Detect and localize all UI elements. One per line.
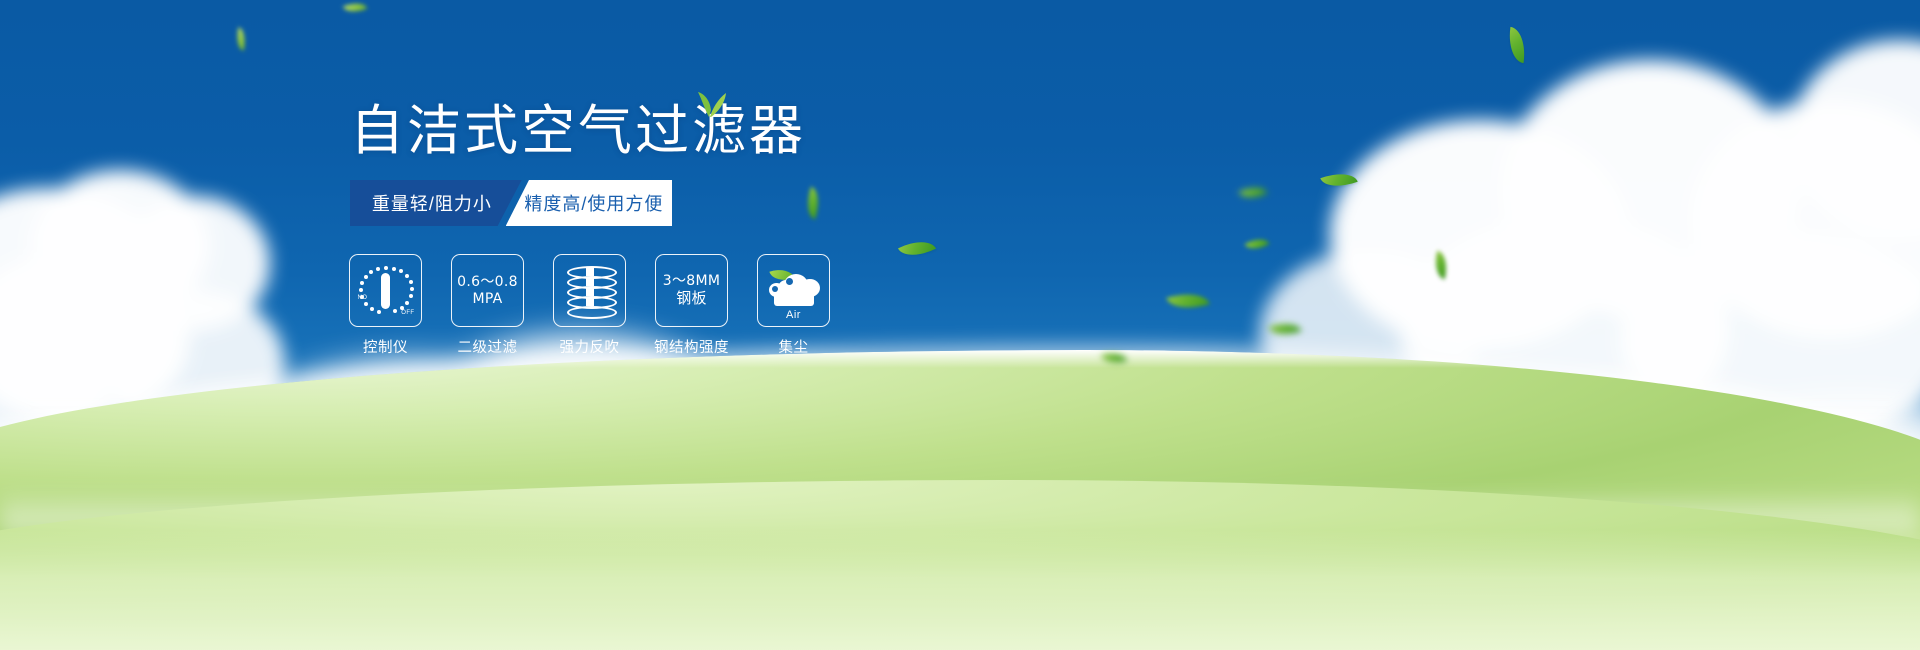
feature-caption: 集尘 xyxy=(779,336,809,357)
feature-item-steel: 3〜8MM 钢板 钢结构强度 xyxy=(656,254,727,357)
steel-value-line1: 3〜8MM xyxy=(663,273,720,290)
feature-item-controller: NO OFF 控制仪 xyxy=(350,254,421,357)
gauge-dial-icon: NO OFF xyxy=(359,264,413,318)
pressure-value-line1: 0.6〜0.8 xyxy=(457,274,518,291)
grass-foreground-band xyxy=(0,530,1920,650)
air-label: Air xyxy=(768,309,820,321)
cloud-base xyxy=(774,293,814,306)
feature-caption: 控制仪 xyxy=(363,336,408,357)
tagline-badges: 重量轻/阻力小 精度高/使用方便 xyxy=(350,180,672,226)
feature-icon-box xyxy=(553,254,626,327)
cloud-air-icon: Air xyxy=(768,270,820,312)
feature-icon-list: NO OFF 控制仪 0.6〜0.8 MPA 二级过滤 xyxy=(350,254,890,357)
badge-label: 重量轻/阻力小 xyxy=(372,190,492,216)
badge-label: 精度高/使用方便 xyxy=(524,190,663,216)
feature-item-backflush: 强力反吹 xyxy=(554,254,625,357)
pressure-value-line2: MPA xyxy=(472,291,502,308)
leaf-icon xyxy=(685,88,731,118)
gauge-label-no: NO xyxy=(358,295,368,301)
hero-content: 自洁式空气过滤器 重量轻/阻力小 精度高/使用方便 xyxy=(350,104,890,357)
page-title: 自洁式空气过滤器 xyxy=(350,104,890,158)
feature-caption: 钢结构强度 xyxy=(654,336,729,357)
feature-icon-box: Air xyxy=(757,254,830,327)
feature-icon-box: NO OFF xyxy=(349,254,422,327)
feature-icon-box: 3〜8MM 钢板 xyxy=(655,254,728,327)
feature-item-dust: Air 集尘 xyxy=(758,254,829,357)
product-hero-banner: 自洁式空气过滤器 重量轻/阻力小 精度高/使用方便 xyxy=(0,0,1920,650)
feature-item-pressure: 0.6〜0.8 MPA 二级过滤 xyxy=(452,254,523,357)
feature-icon-box: 0.6〜0.8 MPA xyxy=(451,254,524,327)
steel-value-line2: 钢板 xyxy=(676,290,707,308)
badge-lightweight-lowresistance: 重量轻/阻力小 xyxy=(350,180,522,226)
feature-caption: 二级过滤 xyxy=(458,336,518,357)
badge-precision-easyuse: 精度高/使用方便 xyxy=(506,180,672,226)
gauge-needle xyxy=(381,273,390,309)
gauge-label-off: OFF xyxy=(401,310,414,316)
feature-caption: 强力反吹 xyxy=(560,336,620,357)
coil-spring-icon xyxy=(567,266,613,316)
